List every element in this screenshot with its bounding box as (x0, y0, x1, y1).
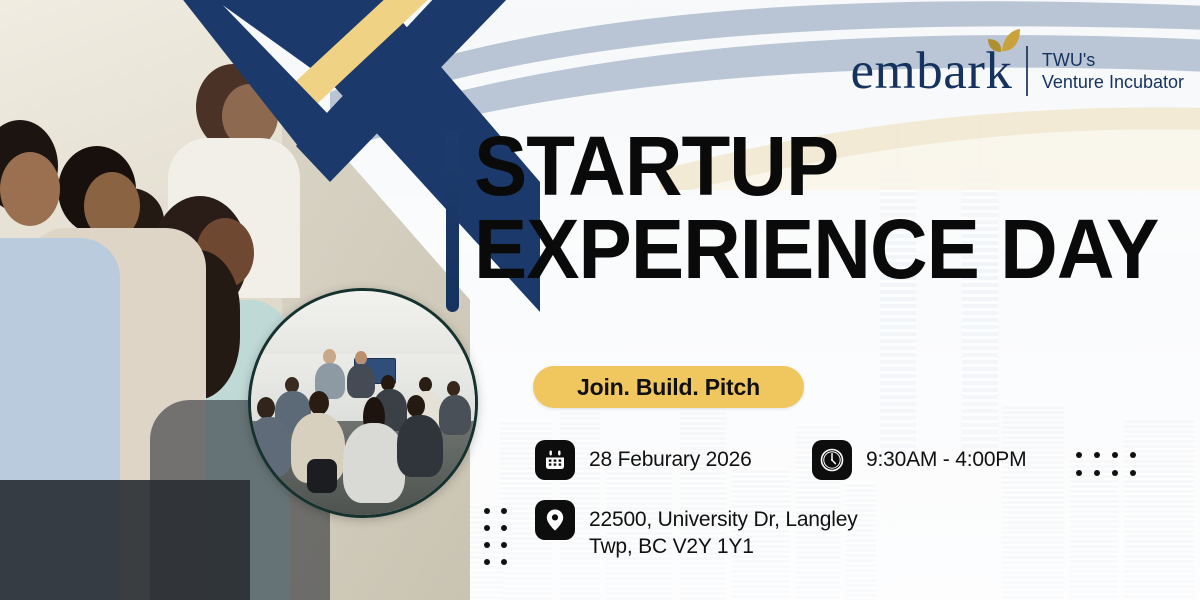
event-location-line-1: 22500, University Dr, Langley (589, 507, 858, 534)
person-face (0, 152, 60, 226)
dot-grid-right (1076, 452, 1136, 476)
attendee-head (419, 377, 432, 392)
logo-tagline-line-1: TWU's (1042, 49, 1184, 72)
event-location-text: 22500, University Dr, Langley Twp, BC V2… (589, 500, 858, 561)
presenter-body (347, 364, 375, 398)
attendee-body (343, 423, 405, 503)
attendee-head (309, 391, 329, 415)
logo-tagline: TWU's Venture Incubator (1042, 49, 1184, 94)
event-time-text: 9:30AM - 4:00PM (866, 440, 1026, 474)
classroom-photo (248, 288, 478, 518)
calendar-icon (535, 440, 575, 480)
headline-line-1: STARTUP (474, 128, 1164, 205)
event-date-row: 28 Feburary 2026 (535, 440, 752, 480)
clock-icon (812, 440, 852, 480)
location-pin-icon (535, 500, 575, 540)
logo-tagline-line-2: Venture Incubator (1042, 71, 1184, 94)
attendee-head (257, 397, 275, 419)
page-title: STARTUP EXPERIENCE DAY (474, 128, 1200, 289)
leaf-icon (980, 27, 1024, 65)
event-time-row: 9:30AM - 4:00PM (812, 440, 1026, 480)
logo-mark: embark (850, 47, 1012, 96)
event-location-row: 22500, University Dr, Langley Twp, BC V2… (535, 500, 858, 561)
backpack (307, 459, 337, 493)
event-date-text: 28 Feburary 2026 (589, 440, 752, 474)
title-accent-bar (446, 130, 459, 312)
attendee-head (447, 381, 460, 396)
presenter-head (355, 351, 367, 365)
dot-grid-left (484, 508, 507, 565)
logo-divider (1026, 46, 1028, 96)
tagline-pill: Join. Build. Pitch (533, 366, 804, 408)
attendee-head (407, 395, 425, 417)
attendee-body (248, 417, 291, 477)
attendee-body (397, 415, 443, 477)
presenter-head (323, 349, 336, 364)
event-poster: STARTUP EXPERIENCE DAY embark TWU's Vent… (0, 0, 1200, 600)
embark-logo: embark TWU's Venture Incubator (850, 46, 1184, 96)
attendee-body (439, 395, 471, 435)
event-location-line-2: Twp, BC V2Y 1Y1 (589, 534, 858, 561)
tagline-text: Join. Build. Pitch (577, 374, 760, 401)
headline-line-2: EXPERIENCE DAY (474, 211, 1164, 288)
